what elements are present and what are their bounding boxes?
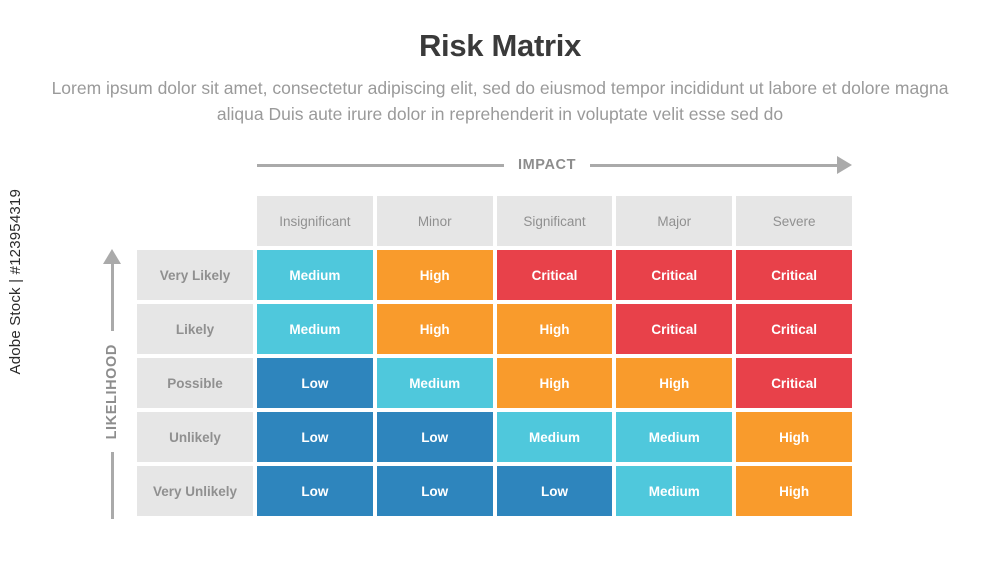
matrix-column-header: Insignificant <box>257 196 373 246</box>
matrix-cell-medium[interactable]: Medium <box>257 304 373 354</box>
matrix-row: Very LikelyMediumHighCriticalCriticalCri… <box>137 250 852 300</box>
likelihood-axis-line-top <box>111 264 114 331</box>
matrix-cell-low[interactable]: Low <box>257 466 373 516</box>
impact-axis-line-right <box>590 164 837 167</box>
page-subtitle: Lorem ipsum dolor sit amet, consectetur … <box>45 75 955 127</box>
impact-axis-label: IMPACT <box>504 157 590 173</box>
matrix-cell-critical[interactable]: Critical <box>616 304 732 354</box>
matrix-cell-critical[interactable]: Critical <box>736 250 852 300</box>
matrix-row-label: Likely <box>137 304 253 354</box>
matrix-cell-high[interactable]: High <box>616 358 732 408</box>
likelihood-axis-line-bottom <box>111 452 114 519</box>
page-title: Risk Matrix <box>0 26 1000 66</box>
matrix-cell-critical[interactable]: Critical <box>616 250 732 300</box>
matrix-column-header: Significant <box>497 196 613 246</box>
matrix-cell-medium[interactable]: Medium <box>616 466 732 516</box>
matrix-cell-critical[interactable]: Critical <box>497 250 613 300</box>
matrix-row-label: Very Likely <box>137 250 253 300</box>
matrix-row: PossibleLowMediumHighHighCritical <box>137 358 852 408</box>
matrix-row: Very UnlikelyLowLowLowMediumHigh <box>137 466 852 516</box>
matrix-cell-low[interactable]: Low <box>377 466 493 516</box>
matrix-cell-high[interactable]: High <box>736 466 852 516</box>
matrix-cell-low[interactable]: Low <box>377 412 493 462</box>
matrix-cell-high[interactable]: High <box>377 250 493 300</box>
chart-header: Risk Matrix Lorem ipsum dolor sit amet, … <box>0 26 1000 127</box>
matrix-row: LikelyMediumHighHighCriticalCritical <box>137 304 852 354</box>
likelihood-axis: LIKELIHOOD <box>92 249 132 519</box>
stock-watermark-text: Adobe Stock | #123954319 <box>7 189 24 375</box>
matrix-row: UnlikelyLowLowMediumMediumHigh <box>137 412 852 462</box>
matrix-row-label: Possible <box>137 358 253 408</box>
impact-axis-line-left <box>257 164 504 167</box>
matrix-cell-medium[interactable]: Medium <box>616 412 732 462</box>
matrix-cell-critical[interactable]: Critical <box>736 304 852 354</box>
matrix-cell-medium[interactable]: Medium <box>497 412 613 462</box>
arrow-up-icon <box>103 249 121 264</box>
matrix-cell-high[interactable]: High <box>497 358 613 408</box>
matrix-cell-medium[interactable]: Medium <box>257 250 373 300</box>
matrix-cell-high[interactable]: High <box>736 412 852 462</box>
matrix-cell-low[interactable]: Low <box>257 358 373 408</box>
matrix-column-header: Minor <box>377 196 493 246</box>
matrix-row-label: Unlikely <box>137 412 253 462</box>
matrix-cell-medium[interactable]: Medium <box>377 358 493 408</box>
likelihood-axis-label: LIKELIHOOD <box>104 331 120 452</box>
matrix-cell-critical[interactable]: Critical <box>736 358 852 408</box>
matrix-corner-spacer <box>137 196 253 246</box>
risk-matrix: InsignificantMinorSignificantMajorSevere… <box>137 196 852 516</box>
matrix-row-label: Very Unlikely <box>137 466 253 516</box>
matrix-cell-high[interactable]: High <box>497 304 613 354</box>
matrix-header-row: InsignificantMinorSignificantMajorSevere <box>137 196 852 246</box>
matrix-cell-high[interactable]: High <box>377 304 493 354</box>
matrix-column-header: Major <box>616 196 732 246</box>
matrix-cell-low[interactable]: Low <box>257 412 373 462</box>
impact-axis: IMPACT <box>257 152 852 178</box>
arrow-right-icon <box>837 156 852 174</box>
matrix-cell-low[interactable]: Low <box>497 466 613 516</box>
matrix-column-header: Severe <box>736 196 852 246</box>
